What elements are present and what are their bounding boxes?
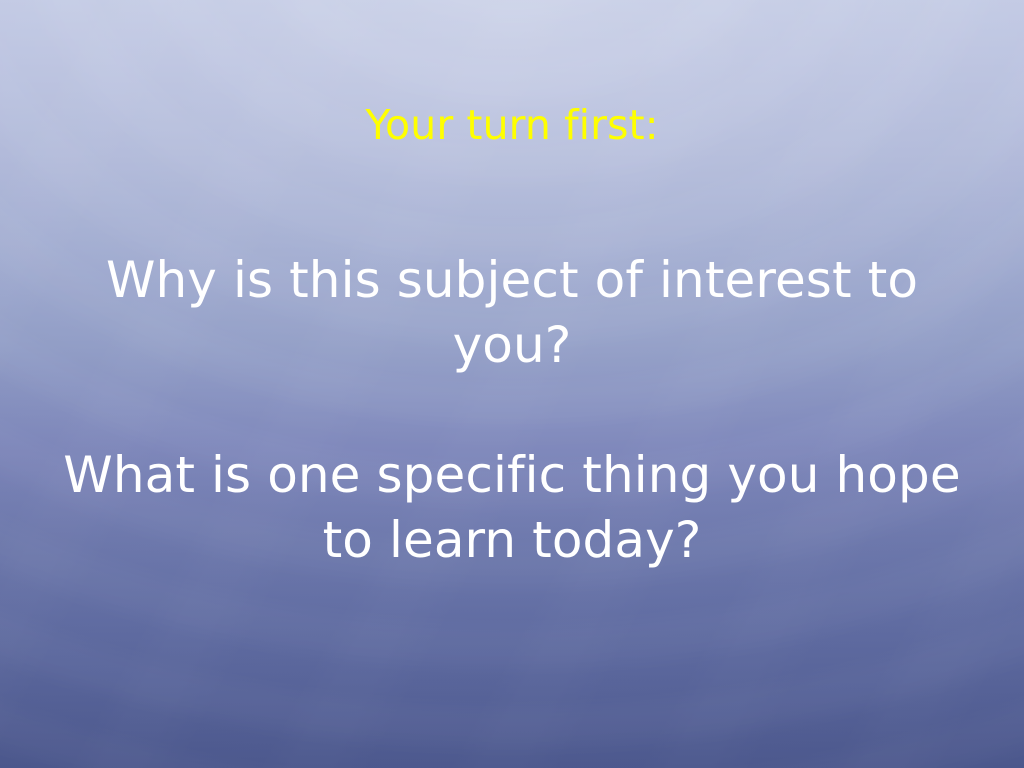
slide-title: Your turn first: bbox=[0, 103, 1024, 149]
body-question-1: Why is this subject of interest to you? bbox=[62, 248, 962, 378]
presentation-slide: Your turn first: Why is this subject of … bbox=[0, 0, 1024, 768]
body-question-2: What is one specific thing you hope to l… bbox=[62, 443, 962, 573]
body-paragraph-spacer bbox=[62, 378, 962, 443]
slide-content: Your turn first: Why is this subject of … bbox=[0, 0, 1024, 768]
slide-body: Why is this subject of interest to you? … bbox=[62, 248, 962, 573]
